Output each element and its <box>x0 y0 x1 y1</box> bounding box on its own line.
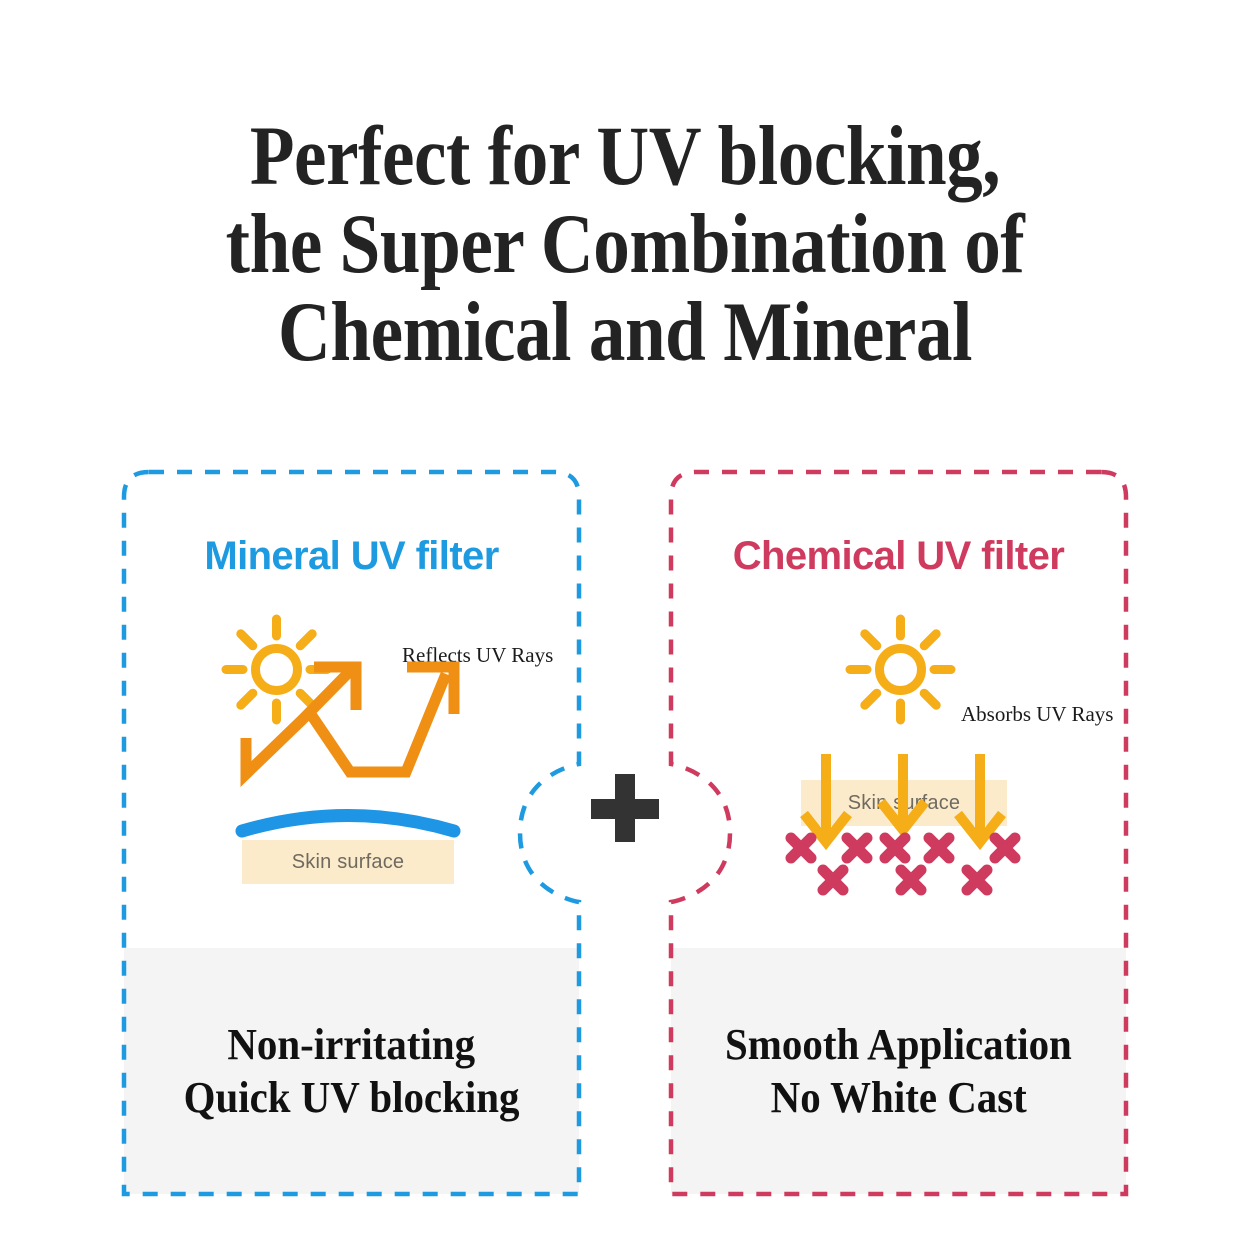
panel-chemical-benefits: Smooth Application No White Cast <box>671 948 1126 1194</box>
plus-combination-icon <box>591 774 659 842</box>
page-title-line-2: the Super Combination of <box>88 200 1163 288</box>
panel-chemical-caption: Absorbs UV Rays <box>961 702 1113 727</box>
page-title-line-3: Chemical and Mineral <box>88 288 1163 376</box>
reflect-arrows-icon <box>232 650 472 810</box>
plus-vertical-bar <box>615 774 635 842</box>
panel-mineral-uv-filter: Mineral UV filter Reflects UV Rays <box>124 472 579 1194</box>
sun-icon <box>843 612 958 727</box>
panel-mineral-heading: Mineral UV filter <box>124 534 579 579</box>
panel-mineral-benefit-line-2: Quick UV blocking <box>184 1071 520 1124</box>
panel-chemical-uv-filter: Chemical UV filter Absorbs UV Rays <box>671 472 1126 1194</box>
panel-mineral-benefit-line-1: Non-irritating <box>228 1018 476 1071</box>
panel-chemical-benefit-line-2: No White Cast <box>770 1071 1026 1124</box>
panel-mineral-benefits: Non-irritating Quick UV blocking <box>124 948 579 1194</box>
panel-chemical-benefit-line-1: Smooth Application <box>725 1018 1072 1071</box>
barrier-arc-icon <box>234 798 462 838</box>
x-marks-icon <box>779 824 1029 904</box>
panel-mineral-skin-label: Skin surface <box>292 851 404 874</box>
page-title-line-1: Perfect for UV blocking, <box>88 112 1163 200</box>
panel-chemical-heading: Chemical UV filter <box>671 534 1126 579</box>
panel-chemical-figure: Absorbs UV Rays Skin surface <box>671 602 1126 932</box>
panel-mineral-skin-surface-band: Skin surface <box>242 840 454 884</box>
page-title: Perfect for UV blocking, the Super Combi… <box>88 112 1163 376</box>
panel-mineral-figure: Reflects UV Rays Skin surface <box>124 602 579 932</box>
